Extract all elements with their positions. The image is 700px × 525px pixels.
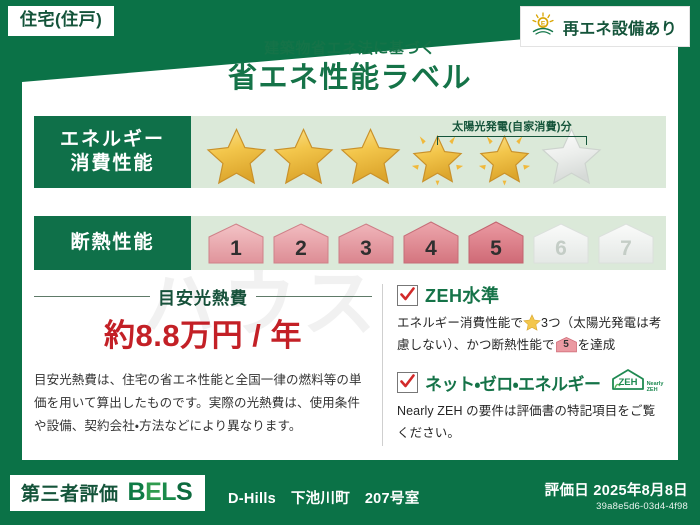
bels-letter-b: B: [128, 478, 146, 506]
heading-rule-right: [256, 296, 372, 297]
zeh-desc-part3: を達成: [578, 338, 616, 352]
main-card: ハウス エネルギー 消費性能 太陽光発電(自家消費)分: [22, 104, 678, 460]
evaluation-date: 評価日 2025年8月8日: [545, 479, 688, 500]
energy-performance-label: 住宅(住戸) E 再エネ設備あり 建築物省エネ法に基づく 省エネ性能ラベル: [0, 0, 700, 525]
insulation-house-7-number: 7: [595, 238, 657, 259]
zeh-house-logo-icon: ZEH: [611, 368, 645, 396]
inline-star-icon: [523, 314, 541, 332]
zeh-standard-checkbox[interactable]: [397, 285, 418, 306]
solar-annotation: 太陽光発電(自家消費)分: [437, 118, 587, 145]
utility-cost-note: 目安光熱費は、住宅の省エネ性能と全国一律の燃料等の単価を用いて算出したものです。…: [34, 369, 372, 438]
evaluation-info: 評価日 2025年8月8日 39a8e5d6-03d4-4f98: [545, 479, 688, 512]
energy-stars-body: 太陽光発電(自家消費)分: [191, 116, 666, 188]
insulation-house-1: 1: [205, 221, 267, 265]
insulation-house-3: 3: [335, 221, 397, 265]
evaluation-id: 39a8e5d6-03d4-4f98: [545, 501, 688, 512]
label-subtitle: 建築物省エネ法に基づく: [0, 40, 700, 58]
utility-cost-heading-text: 目安光熱費: [158, 284, 248, 309]
bels-letter-e: E: [145, 478, 161, 506]
energy-label-line2: 消費性能: [70, 152, 154, 176]
bels-logo: BELS: [128, 480, 193, 505]
property-address: D-Hills 下池川町 207号室: [228, 487, 420, 508]
insulation-house-6: 6: [530, 221, 592, 265]
svg-text:E: E: [541, 21, 546, 28]
insulation-house-5: 5: [465, 221, 527, 265]
zeh-netzero-checkbox[interactable]: [397, 372, 418, 393]
zeh-standard-description: エネルギー消費性能で3つ（太陽光発電は考慮しない）、かつ断熱性能で5を達成: [397, 313, 666, 356]
insulation-house-2: 2: [270, 221, 332, 265]
energy-label-line1: エネルギー: [60, 128, 165, 152]
insulation-house-3-number: 3: [335, 238, 397, 259]
zeh-standard-header: ZEH水準: [397, 282, 666, 308]
footer: 第三者評価 BELS D-Hills 下池川町 207号室 評価日 2025年8…: [0, 468, 700, 525]
zeh-standard-item: ZEH水準 エネルギー消費性能で3つ（太陽光発電は考慮しない）、かつ断熱性能で5…: [397, 282, 666, 356]
zeh-standard-title: ZEH水準: [425, 282, 500, 308]
zeh-desc-star-count: 3つ: [541, 316, 561, 330]
zeh-netzero-title: ネット・ゼロ・エネルギー: [425, 370, 601, 395]
star-filled-3: [339, 126, 402, 186]
star-filled-2: [272, 126, 335, 186]
title-block: 建築物省エネ法に基づく 省エネ性能ラベル: [0, 40, 700, 96]
insulation-performance-row: 断熱性能 1: [34, 216, 666, 270]
panel-divider: [382, 284, 383, 446]
zeh-logo-sub-line2: ZEH: [647, 387, 658, 393]
insulation-house-7: 7: [595, 221, 657, 265]
energy-performance-row: エネルギー 消費性能 太陽光発電(自家消費)分: [34, 116, 666, 188]
bels-letter-s: S: [176, 478, 192, 506]
zeh-logo-subtext: Nearly ZEH: [647, 382, 664, 396]
zeh-logo: ZEH Nearly ZEH: [611, 368, 664, 396]
insulation-level-scale: 1 2: [205, 221, 657, 265]
insulation-house-5-number: 5: [465, 238, 527, 259]
zeh-netzero-item: ネット・ゼロ・エネルギー ZEH Nearly: [397, 368, 666, 444]
solar-bracket-line: [437, 136, 587, 145]
utility-cost-value: 約8.8万円 / 年: [34, 319, 372, 353]
energy-performance-label: エネルギー 消費性能: [34, 116, 191, 188]
insulation-house-4-number: 4: [400, 238, 462, 259]
solar-annotation-label: 太陽光発電(自家消費)分: [437, 118, 587, 134]
insulation-house-6-number: 6: [530, 238, 592, 259]
bels-letter-l: L: [161, 478, 176, 506]
utility-cost-heading: 目安光熱費: [34, 284, 372, 309]
sun-icon: E: [530, 12, 556, 41]
insulation-houses-body: 1 2: [191, 216, 666, 270]
lower-section: 目安光熱費 約8.8万円 / 年 目安光熱費は、住宅の省エネ性能と全国一律の燃料…: [34, 280, 666, 450]
insulation-label-text: 断熱性能: [70, 231, 154, 255]
zeh-netzero-description: Nearly ZEH の要件は評価書の特記項目をご覧ください。: [397, 401, 666, 444]
inline-house-number: 5: [555, 340, 578, 350]
page-title: 省エネ性能ラベル: [0, 60, 700, 96]
category-tag: 住宅(住戸): [8, 6, 114, 36]
svg-text:ZEH: ZEH: [618, 377, 637, 388]
insulation-house-4: 4: [400, 221, 462, 265]
star-filled-1: [205, 126, 268, 186]
zeh-panel: ZEH水準 エネルギー消費性能で3つ（太陽光発電は考慮しない）、かつ断熱性能で5…: [397, 280, 666, 450]
zeh-desc-part1: エネルギー消費性能で: [397, 316, 523, 330]
third-party-label: 第三者評価: [21, 479, 119, 506]
inline-house-icon: 5: [555, 336, 578, 353]
utility-cost-panel: 目安光熱費 約8.8万円 / 年 目安光熱費は、住宅の省エネ性能と全国一律の燃料…: [34, 280, 380, 450]
bels-certification-box: 第三者評価 BELS: [10, 475, 205, 511]
insulation-house-2-number: 2: [270, 238, 332, 259]
zeh-netzero-header: ネット・ゼロ・エネルギー ZEH Nearly: [397, 368, 666, 396]
insulation-house-1-number: 1: [205, 238, 267, 259]
insulation-performance-label: 断熱性能: [34, 216, 191, 270]
renewable-badge-label: 再エネ設備あり: [563, 15, 677, 39]
heading-rule-left: [34, 296, 150, 297]
